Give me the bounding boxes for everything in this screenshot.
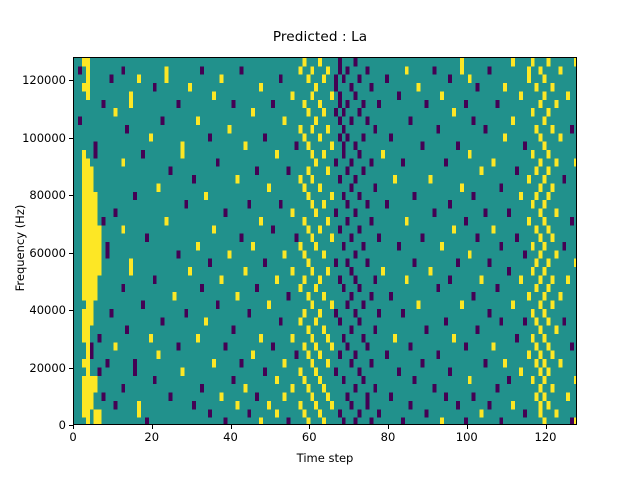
- x-tick-mark: [152, 425, 153, 429]
- heatmap-axes: [73, 57, 577, 425]
- y-tick-label: 60000: [29, 246, 66, 260]
- x-tick-label: 20: [144, 430, 159, 444]
- x-tick-label: 40: [223, 430, 238, 444]
- y-tick-label: 40000: [29, 303, 66, 317]
- x-tick-label: 60: [302, 430, 317, 444]
- y-tick-label: 0: [59, 418, 66, 432]
- x-tick-label: 100: [456, 430, 478, 444]
- y-tick-label: 80000: [29, 188, 66, 202]
- x-tick-mark: [388, 425, 389, 429]
- y-tick-mark: [69, 310, 73, 311]
- y-axis-label: Frequency (Hz): [13, 148, 27, 348]
- y-tick-mark: [69, 425, 73, 426]
- x-tick-label: 120: [535, 430, 557, 444]
- x-tick-mark: [309, 425, 310, 429]
- x-axis-label: Time step: [73, 451, 577, 465]
- x-tick-label: 80: [381, 430, 396, 444]
- x-tick-mark: [546, 425, 547, 429]
- y-tick-mark: [69, 253, 73, 254]
- y-tick-mark: [69, 368, 73, 369]
- heatmap-image: [74, 58, 577, 425]
- y-tick-label: 100000: [22, 131, 66, 145]
- y-tick-mark: [69, 195, 73, 196]
- x-tick-mark: [231, 425, 232, 429]
- x-tick-label: 0: [69, 430, 76, 444]
- y-tick-mark: [69, 138, 73, 139]
- y-tick-mark: [69, 80, 73, 81]
- page-title: Predicted : La: [0, 29, 640, 45]
- matplotlib-figure: Predicted : La 0204060801001200200004000…: [0, 0, 640, 480]
- y-tick-label: 20000: [29, 361, 66, 375]
- x-tick-mark: [73, 425, 74, 429]
- x-tick-mark: [467, 425, 468, 429]
- y-tick-label: 120000: [22, 73, 66, 87]
